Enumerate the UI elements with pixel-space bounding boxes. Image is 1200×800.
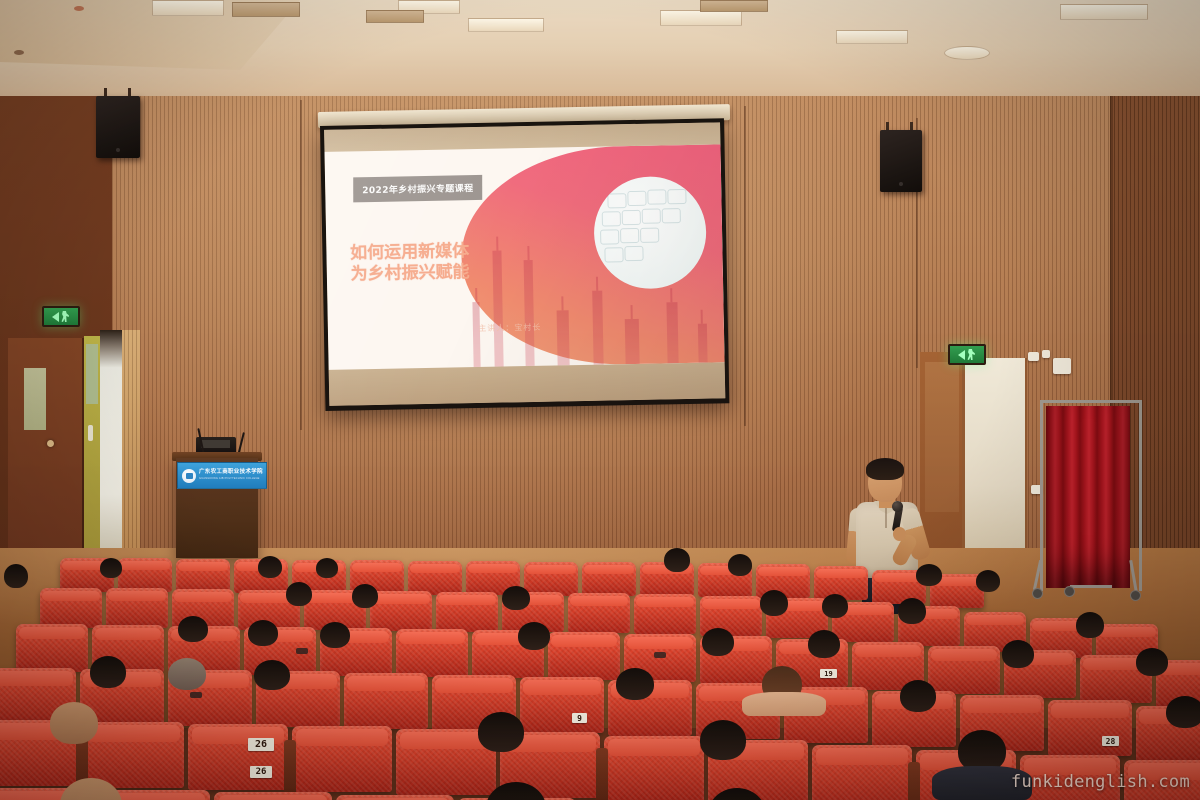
- slide-headline: 如何运用新媒体 为乡村振兴赋能: [350, 241, 470, 286]
- logo-inner-mark: [186, 473, 193, 479]
- audience-head: [4, 564, 28, 588]
- seat[interactable]: [336, 795, 454, 800]
- seat[interactable]: 9: [520, 677, 604, 733]
- seat-number-tag: 9: [572, 713, 587, 723]
- seat[interactable]: [436, 592, 498, 632]
- seat[interactable]: [582, 562, 636, 596]
- audience-head: [728, 554, 752, 576]
- seat-number-tag: 19: [820, 669, 837, 678]
- seat[interactable]: [292, 726, 392, 792]
- audience-head: [702, 628, 734, 656]
- audience-head: [700, 720, 746, 760]
- seat[interactable]: [634, 594, 696, 634]
- right-wall-speaker: [880, 130, 922, 192]
- ceiling-air-vent: [700, 0, 768, 12]
- seat[interactable]: 28: [1048, 700, 1132, 756]
- audience-head: [916, 564, 942, 586]
- door-vision-panel: [24, 368, 46, 430]
- audience-head: [900, 680, 936, 712]
- audience-head: [316, 558, 338, 578]
- audience-head: [90, 656, 126, 688]
- open-corridor: [100, 330, 122, 565]
- wall-panel-seam: [300, 100, 302, 430]
- seat[interactable]: [396, 629, 468, 677]
- seat-clip: [654, 652, 666, 658]
- podium-laptop-screen: [201, 440, 230, 448]
- screen-surface: 2022年乡村振兴专题课程 如何运用新媒体 为乡村振兴赋能 主讲人：宝村长: [324, 122, 725, 406]
- exit-sign-left: [42, 306, 80, 327]
- seat-clip: [296, 648, 308, 654]
- smoke-detector: [74, 6, 84, 11]
- audience-shoulders: [742, 692, 826, 716]
- audience-head: [898, 598, 926, 624]
- running-man-icon: [61, 311, 70, 322]
- ceiling-light-panel: [944, 46, 990, 60]
- audience-head: [976, 570, 1000, 592]
- presenter-hand: [893, 527, 906, 541]
- ceiling-light-panel: [468, 18, 544, 32]
- ceiling-air-vent: [232, 2, 300, 17]
- presenter-placket: [885, 508, 887, 528]
- seat-armrest: [596, 748, 608, 800]
- seat[interactable]: [812, 745, 912, 800]
- ceiling-light-panel: [152, 0, 224, 16]
- audience-head: [822, 594, 848, 618]
- wall-panel-seam: [744, 106, 746, 426]
- seat[interactable]: [524, 562, 578, 596]
- exit-arrow-icon: [958, 350, 965, 360]
- seat[interactable]: [548, 632, 620, 680]
- seat[interactable]: [604, 736, 704, 800]
- seat[interactable]: 26: [188, 724, 288, 790]
- audience-head: [616, 668, 654, 700]
- audience-head: [258, 556, 282, 578]
- exit-sign-right: [948, 344, 986, 365]
- door-right[interactable]: [962, 358, 1027, 570]
- door-right-panel: [925, 362, 959, 512]
- seat[interactable]: [106, 588, 168, 628]
- door-knob-icon[interactable]: [47, 440, 54, 447]
- seat[interactable]: [568, 593, 630, 633]
- ceiling-light-panel: [660, 10, 742, 26]
- door-handle-icon[interactable]: [88, 425, 93, 441]
- exit-sign-glow: [44, 308, 78, 325]
- seat-armrest: [908, 762, 920, 800]
- seat-number-tag: 26: [248, 738, 274, 751]
- door-left[interactable]: [8, 338, 84, 553]
- audience-head: [664, 548, 690, 572]
- audience-head: [1076, 612, 1104, 638]
- seat-armrest: [284, 740, 296, 796]
- audience-head: [760, 590, 788, 616]
- audience-head: [100, 558, 122, 578]
- audience-head: [1002, 640, 1034, 668]
- microphone-head-icon: [892, 501, 903, 512]
- podium-banner-cn: 广东农工商职业技术学院: [199, 470, 263, 476]
- slide-banner-text: 2022年乡村振兴专题课程: [362, 184, 473, 196]
- slide-presenter-line: 主讲人：宝村长: [478, 322, 541, 334]
- running-man-icon: [967, 349, 976, 360]
- audience-head: [808, 630, 840, 658]
- seat[interactable]: [16, 624, 88, 672]
- podium-banner-text: 广东农工商职业技术学院 GUANGDONG AIB POLYTECHNIC CO…: [199, 470, 263, 480]
- seat[interactable]: [176, 559, 230, 593]
- smoke-detector: [14, 50, 24, 55]
- audience-head: [320, 622, 350, 648]
- seat-number-tag: 28: [1102, 736, 1119, 746]
- audience-head: [518, 622, 550, 650]
- exit-sign-glow: [950, 346, 984, 363]
- auditorium-photo: 2022年乡村振兴专题课程 如何运用新媒体 为乡村振兴赋能 主讲人：宝村长 广东…: [0, 0, 1200, 800]
- audience-head: [286, 582, 312, 606]
- slide-headline-line1: 如何运用新媒体: [350, 241, 469, 265]
- podium-banner: 广东农工商职业技术学院 GUANGDONG AIB POLYTECHNIC CO…: [177, 462, 267, 489]
- wall-bracket: [1053, 358, 1071, 374]
- left-wall-speaker: [96, 96, 140, 158]
- ceiling-light-panel: [1060, 4, 1148, 20]
- audience-head: [1166, 696, 1200, 728]
- audience-head: [502, 586, 530, 610]
- audience-head: [1136, 648, 1168, 676]
- audience-head: [178, 616, 208, 642]
- audience-head: [352, 584, 378, 608]
- college-logo-icon: [182, 469, 196, 483]
- ceiling-air-vent: [366, 10, 424, 23]
- seat[interactable]: [344, 673, 428, 729]
- wall-switch-plate[interactable]: [1042, 350, 1050, 358]
- seat-number-tag: 26: [250, 766, 272, 778]
- audience-head: [478, 712, 524, 752]
- audience-head: [50, 702, 98, 744]
- ceiling-light-panel: [836, 30, 908, 44]
- audience-seating: 19 9 28: [0, 540, 1200, 800]
- seat[interactable]: [928, 646, 1000, 694]
- audience-head: [248, 620, 278, 646]
- door-glass-panel: [86, 344, 98, 404]
- seat[interactable]: [408, 561, 462, 595]
- watermark: funkidenglish.com: [1011, 772, 1190, 792]
- podium-banner-en: GUANGDONG AIB POLYTECHNIC COLLEGE: [199, 478, 263, 481]
- exit-arrow-icon: [52, 312, 59, 322]
- audience-head: [254, 660, 290, 690]
- wall-switch-plate[interactable]: [1028, 352, 1039, 361]
- audience-head: [168, 658, 206, 690]
- slide-course-banner: 2022年乡村振兴专题课程: [353, 175, 482, 202]
- slide-headline-line2: 为乡村振兴赋能: [350, 262, 469, 286]
- presentation-slide: 2022年乡村振兴专题课程 如何运用新媒体 为乡村振兴赋能 主讲人：宝村长: [324, 144, 724, 370]
- seat[interactable]: [40, 588, 102, 628]
- seat[interactable]: [214, 792, 332, 800]
- seat-clip: [190, 692, 202, 698]
- projection-screen: 2022年乡村振兴专题课程 如何运用新媒体 为乡村振兴赋能 主讲人：宝村长: [320, 118, 729, 411]
- seat[interactable]: [118, 558, 172, 592]
- presenter-hair: [866, 458, 904, 480]
- seat[interactable]: [370, 591, 432, 631]
